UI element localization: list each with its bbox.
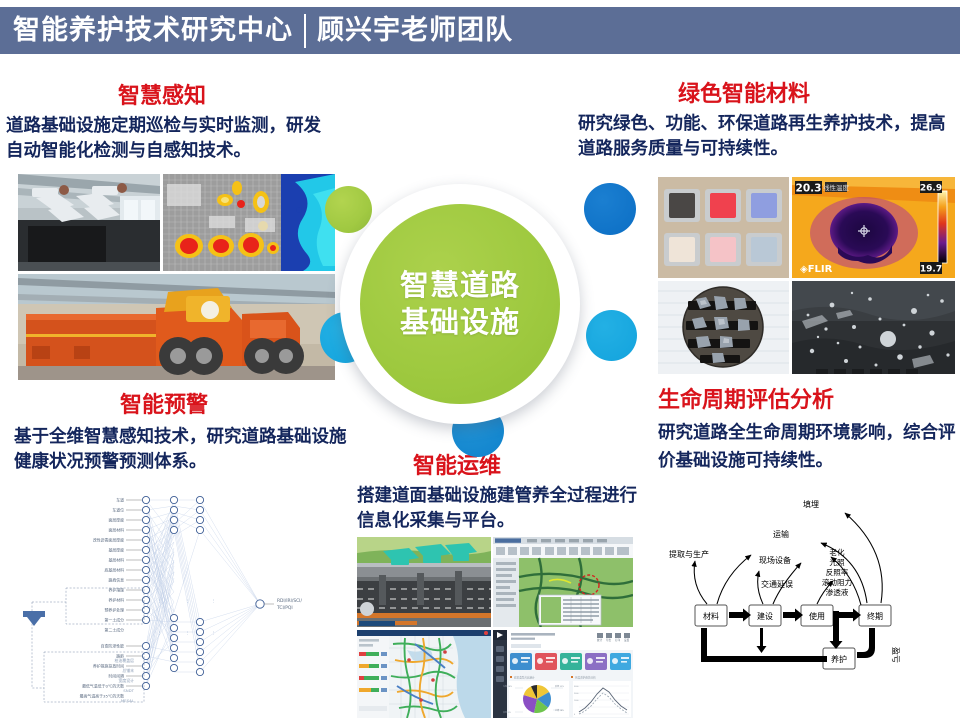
lca-label-extraction: 提取与生产: [669, 549, 709, 559]
lca-impact-illumination: 光照: [829, 557, 845, 567]
svg-text:TCI/PQI: TCI/PQI: [276, 605, 293, 611]
svg-text:⋮: ⋮: [212, 599, 215, 603]
svg-text:柏油覆盖层: 柏油覆盖层: [115, 658, 135, 663]
svg-text:病害类型占比统计: 病害类型占比统计: [514, 675, 535, 679]
image-gis-map: [357, 630, 491, 718]
svg-text:面层材料: 面层材料: [108, 527, 124, 532]
header-bar: 智能养护技术研究中心 顾兴宇老师团队: [0, 7, 960, 54]
svg-text:⋮: ⋮: [186, 599, 189, 603]
image-material-trays: [658, 177, 789, 278]
svg-text:第二土成分: 第二土成分: [105, 627, 125, 632]
lca-impact-leachate: 渗透液: [826, 587, 849, 597]
lca-label-landfill: 填埋: [803, 499, 819, 509]
section-heading-warning: 智能预警: [120, 394, 208, 418]
lca-label-site-equipment: 现场设备: [759, 555, 791, 565]
svg-text:改性沥青面层厚度: 改性沥青面层厚度: [93, 537, 124, 542]
svg-text:养护措施: 养护措施: [108, 587, 124, 592]
lca-impact-rolling: 滚动阻力: [822, 577, 852, 587]
svg-text:建设: 建设: [757, 611, 773, 621]
svg-text:预养护处理: 预养护处理: [105, 607, 125, 612]
lca-label-profit: 盈亏: [891, 647, 900, 663]
svg-text:导出: 导出: [606, 638, 612, 642]
svg-text:设置: 设置: [624, 638, 630, 642]
neural-network-diagram: 车道车道位 面层厚度面层材料 改性沥青面层厚度基层厚度 基层材料底基层材料 路肩…: [22, 492, 307, 718]
hub-title-line2: 基础设施: [400, 304, 520, 341]
svg-text:总铺末: 总铺末: [122, 668, 134, 673]
section-body-warning: 基于全维智慧感知技术，研究道路基础设施健康状况预警预测体系。: [14, 425, 354, 475]
svg-text:底基层材料: 底基层材料: [105, 567, 125, 572]
svg-text:材料: 材料: [703, 611, 719, 621]
lca-label-transport: 运输: [773, 529, 789, 539]
svg-text:车道位: 车道位: [112, 507, 124, 512]
team-name: 顾兴宇老师团队: [317, 17, 513, 44]
flir-temp-min: 19.7: [920, 265, 942, 275]
svg-text:养护措施投放时间: 养护措施投放时间: [93, 663, 124, 668]
svg-text:SNDT: SNDT: [123, 688, 134, 693]
hub-disc: 智慧道路 基础设施: [360, 204, 560, 404]
svg-text:第一土成分: 第一土成分: [105, 617, 125, 622]
satellite-dot-top-right: [584, 183, 636, 235]
svg-text:养护: 养护: [831, 654, 847, 664]
lca-impact-aging: 老化: [829, 547, 845, 557]
svg-text:宽度设计: 宽度设计: [118, 678, 134, 683]
section-body-operation: 搭建道面基础设施建管养全过程进行信息化采集与平台。: [357, 484, 647, 534]
svg-text:月度养护趋势分析: 月度养护趋势分析: [575, 675, 596, 679]
svg-text:MESAL: MESAL: [121, 698, 135, 703]
flir-brand-label: ◈FLIR: [800, 264, 833, 275]
page-title: 智能养护技术研究中心: [13, 17, 293, 44]
section-heading-materials: 绿色智能材料: [678, 83, 810, 107]
svg-text:RDI/IRI/SCI/: RDI/IRI/SCI/: [277, 598, 302, 604]
section-body-perception: 道路基础设施定期巡检与实时监测，研发自动智能化检测与自感知技术。: [6, 114, 336, 164]
svg-text:⋮: ⋮: [158, 599, 161, 603]
svg-text:⋮: ⋮: [212, 631, 215, 635]
image-dashboard: 统计导出 打印设置 病害类型占比统计月度养护趋势分析: [493, 630, 633, 718]
section-body-materials: 研究绿色、功能、环保道路再生养护技术，提高道路服务质量与可持续性。: [578, 112, 958, 162]
image-bim-model: [357, 537, 491, 627]
svg-text:路肩信息: 路肩信息: [108, 577, 124, 582]
lca-impact-albedo: 反照率: [826, 567, 849, 577]
svg-text:基层材料: 基层材料: [108, 557, 124, 562]
flir-temp-current: 20.3: [796, 182, 822, 194]
svg-text:养护材料: 养护材料: [108, 597, 124, 602]
flir-temp-max: 26.9: [920, 184, 942, 194]
section-body-lca: 研究道路全生命周期环境影响，综合评价基础设施可持续性。: [658, 419, 958, 476]
svg-text:打印: 打印: [615, 638, 621, 642]
image-sem-micrograph: [792, 281, 955, 374]
svg-text:基层厚度: 基层厚度: [108, 547, 124, 552]
svg-text:终期: 终期: [867, 611, 883, 621]
image-gpr-heatmap: [163, 174, 335, 271]
svg-text:最高气温高于35℃的天数: 最高气温高于35℃的天数: [80, 693, 124, 698]
svg-text:⋮: ⋮: [158, 631, 161, 635]
header-divider: [304, 14, 306, 48]
section-heading-operation: 智能运维: [413, 455, 501, 479]
satellite-dot-right: [586, 310, 637, 361]
svg-text:统计: 统计: [597, 638, 603, 642]
lifecycle-assessment-diagram: 材料 建设 使用 终期 养护: [655, 487, 955, 717]
svg-text:面层厚度: 面层厚度: [108, 517, 124, 522]
svg-text:⋮: ⋮: [186, 631, 189, 635]
section-heading-lca: 生命周期评估分析: [658, 389, 834, 413]
image-flir-thermal: 20.3 线性温度 26.9 19.7 ◈FLIR: [792, 177, 955, 278]
svg-text:线性温度: 线性温度: [823, 183, 850, 192]
svg-text:自愈防渗性能: 自愈防渗性能: [101, 643, 124, 648]
image-maintenance-truck: [18, 274, 335, 380]
svg-text:最低气温低于0℃的天数: 最低气温低于0℃的天数: [82, 683, 124, 688]
image-cad-software: [493, 537, 633, 627]
svg-text:车道: 车道: [116, 497, 124, 502]
hub-title-line1: 智慧道路: [400, 267, 520, 304]
svg-text:使用: 使用: [809, 611, 825, 621]
section-heading-perception: 智慧感知: [118, 85, 206, 109]
lca-label-traffic-delay: 交通延误: [761, 579, 793, 589]
image-asphalt-core: [658, 281, 789, 374]
center-hub: 智慧道路 基础设施: [340, 184, 580, 424]
image-sensor-vehicle: [18, 174, 160, 271]
